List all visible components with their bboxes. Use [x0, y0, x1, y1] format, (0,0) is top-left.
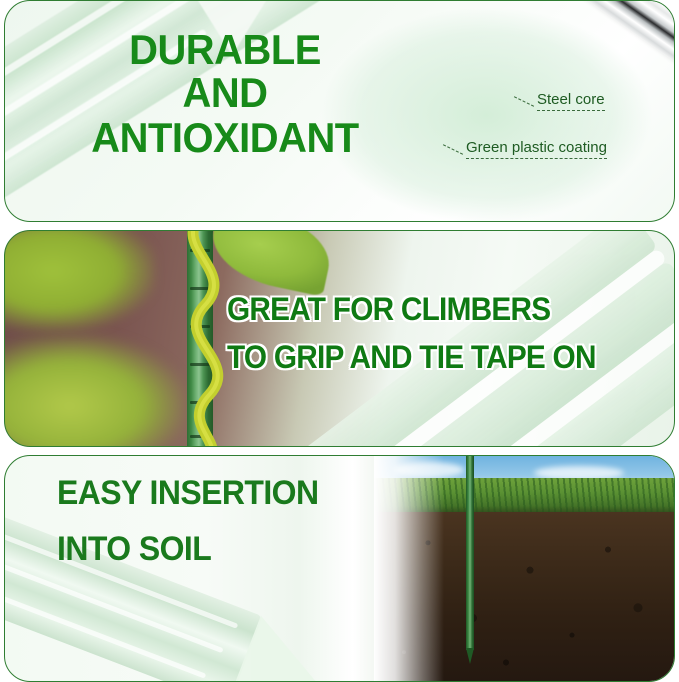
panel-easy-insertion: POINTED END EASY INSERTION INTO SOIL	[4, 455, 675, 682]
foliage-blur-top-left	[4, 230, 155, 331]
climbers-headline: GREAT FOR CLIMBERS TO GRIP AND TIE TAPE …	[227, 285, 675, 381]
inserted-stake-tip	[466, 648, 474, 664]
soil-headline: EASY INSERTION INTO SOIL	[57, 476, 335, 566]
headline-line-3: ANTIOXIDANT	[16, 117, 434, 160]
panel-durable-antioxidant: DURABLE AND ANTIOXIDANT Steel core Green…	[4, 0, 675, 222]
headline-line-2: INTO SOIL	[57, 532, 318, 566]
panel-great-for-climbers: RIDGED SURFACE GREAT FOR CLIMBERS TO GRI…	[4, 230, 675, 447]
durable-headline: DURABLE AND ANTIOXIDANT	[5, 29, 445, 159]
headline-line-1: GREAT FOR CLIMBERS	[227, 285, 646, 333]
headline-line-2: AND	[16, 72, 434, 115]
headline-line-2: TO GRIP AND TIE TAPE ON	[227, 333, 646, 381]
product-infographic: DURABLE AND ANTIOXIDANT Steel core Green…	[0, 0, 679, 682]
headline-line-1: EASY INSERTION	[57, 476, 318, 510]
inserted-stake	[466, 456, 474, 650]
soil-cross-section-scene	[374, 456, 674, 682]
steel-core-illustration	[548, 0, 675, 82]
callout-green-plastic-coating: Green plastic coating	[466, 139, 607, 159]
callout-steel-core: Steel core	[537, 91, 605, 111]
leader-line-green-coating	[443, 144, 463, 155]
headline-line-1: DURABLE	[16, 29, 434, 72]
scene-left-fade	[374, 456, 444, 682]
